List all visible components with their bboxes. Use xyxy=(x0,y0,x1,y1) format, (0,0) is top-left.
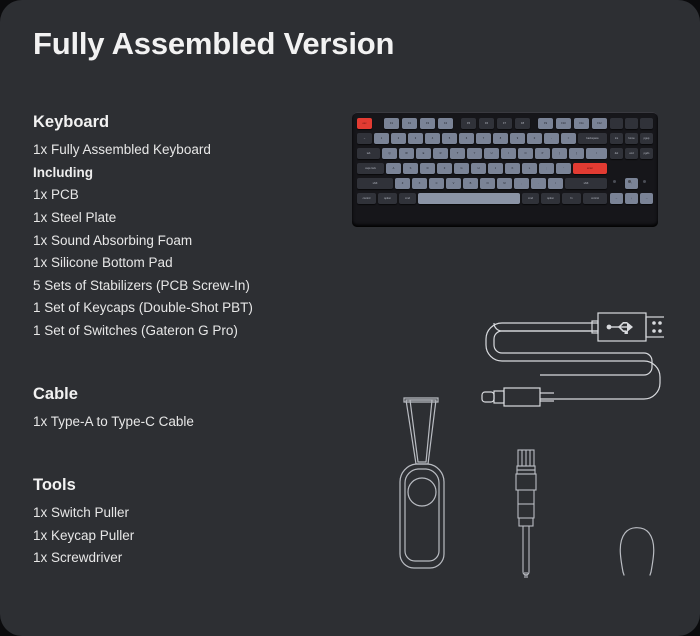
keycap: U xyxy=(484,148,499,159)
keycap: control xyxy=(357,193,376,204)
list-item: 1x Steel Plate xyxy=(33,207,253,230)
keycap: cmd xyxy=(399,193,416,204)
indicator-led xyxy=(613,180,616,183)
keycap: ↑ xyxy=(625,178,638,189)
keycap: F1 xyxy=(384,118,399,129)
keycap: shift xyxy=(565,178,607,189)
section-cable: Cable1x Type-A to Type-C Cable xyxy=(33,383,194,434)
keycap: home xyxy=(625,133,638,144)
keycap: F7 xyxy=(497,118,512,129)
keycap: \ xyxy=(586,148,607,159)
list-item: 1 Set of Switches (Gateron G Pro) xyxy=(33,320,253,343)
keycap: enter xyxy=(573,163,607,174)
keycap: cmd xyxy=(522,193,539,204)
keycap: del xyxy=(610,148,623,159)
page-title: Fully Assembled Version xyxy=(33,27,394,61)
list-item: 1x Screwdriver xyxy=(33,547,134,570)
keycap: 8 xyxy=(493,133,508,144)
keycap xyxy=(418,193,520,204)
keycap: F4 xyxy=(438,118,453,129)
keycap: R xyxy=(433,148,448,159)
keycap: . xyxy=(531,178,546,189)
keycap: 3 xyxy=(408,133,423,144)
keycap: S xyxy=(403,163,418,174)
keycap: [ xyxy=(552,148,567,159)
keycap: 4 xyxy=(425,133,440,144)
keycap: 7 xyxy=(476,133,491,144)
list-item: 1 Set of Keycaps (Double-Shot PBT) xyxy=(33,297,253,320)
content-panel: Fully Assembled Version Keyboard1x Fully… xyxy=(0,0,700,636)
keycap: F xyxy=(437,163,452,174)
keycap: = xyxy=(561,133,576,144)
keycap: O xyxy=(518,148,533,159)
keycap: T xyxy=(450,148,465,159)
section-tools: Tools1x Switch Puller1x Keycap Puller1x … xyxy=(33,474,134,570)
keycap: E xyxy=(416,148,431,159)
keycap xyxy=(625,118,638,129)
keycap: Q xyxy=(382,148,397,159)
keyboard-keys-layer: escF1F2F3F4F5F6F7F8F9F10F11F12~123456789… xyxy=(357,118,653,219)
keycap: I xyxy=(501,148,516,159)
section-keyboard: Keyboard1x Fully Assembled KeyboardInclu… xyxy=(33,111,253,343)
keycap: control xyxy=(583,193,607,204)
cable-illustration xyxy=(468,300,664,418)
section-subheading: Including xyxy=(33,162,253,185)
keyboard-illustration: escF1F2F3F4F5F6F7F8F9F10F11F12~123456789… xyxy=(352,112,658,227)
section-heading-cable: Cable xyxy=(33,383,194,405)
keycap: F12 xyxy=(592,118,607,129)
keycap: F3 xyxy=(420,118,435,129)
keycap: esc xyxy=(357,118,372,129)
list-item: 1x Switch Puller xyxy=(33,502,134,525)
keycap: option xyxy=(378,193,397,204)
list-item: 1x Type-A to Type-C Cable xyxy=(33,411,194,434)
keycap: end xyxy=(625,148,638,159)
keycap: Y xyxy=(467,148,482,159)
keycap: ← xyxy=(610,193,623,204)
keycap: P xyxy=(535,148,550,159)
screwdriver-illustration xyxy=(508,448,544,582)
keycap: ; xyxy=(539,163,554,174)
list-item: 5 Sets of Stabilizers (PCB Screw-In) xyxy=(33,275,253,298)
keycap: F10 xyxy=(556,118,571,129)
keycap: ↓ xyxy=(625,193,638,204)
keycap: N xyxy=(480,178,495,189)
keycap: F6 xyxy=(479,118,494,129)
keycap: K xyxy=(505,163,520,174)
keycap-puller-illustration xyxy=(392,392,452,578)
keycap: C xyxy=(429,178,444,189)
keycap: F2 xyxy=(402,118,417,129)
keycap: B xyxy=(463,178,478,189)
list-item: 1x Fully Assembled Keyboard xyxy=(33,139,253,162)
indicator-led xyxy=(643,180,646,183)
keycap: F8 xyxy=(515,118,530,129)
keycap: D xyxy=(420,163,435,174)
list-item: 1x Silicone Bottom Pad xyxy=(33,252,253,275)
keycap: H xyxy=(471,163,486,174)
keycap xyxy=(640,118,653,129)
keycap: ] xyxy=(569,148,584,159)
keycap: ' xyxy=(556,163,571,174)
keycap: 5 xyxy=(442,133,457,144)
keycap: pgdn xyxy=(640,148,653,159)
keycap: → xyxy=(640,193,653,204)
section-heading-tools: Tools xyxy=(33,474,134,496)
keycap: Z xyxy=(395,178,410,189)
keycap: shift xyxy=(357,178,393,189)
keycap: A xyxy=(386,163,401,174)
keycap: , xyxy=(514,178,529,189)
keycap: G xyxy=(454,163,469,174)
keycap: backspace xyxy=(578,133,607,144)
keycap: 0 xyxy=(527,133,542,144)
list-item: 1x Sound Absorbing Foam xyxy=(33,230,253,253)
indicator-led xyxy=(628,180,631,183)
keycap: F11 xyxy=(574,118,589,129)
keycap: - xyxy=(544,133,559,144)
keycap: 6 xyxy=(459,133,474,144)
list-item: 1x PCB xyxy=(33,184,253,207)
keycap: 9 xyxy=(510,133,525,144)
switch-puller-illustration xyxy=(612,516,662,578)
keycap: X xyxy=(412,178,427,189)
section-heading-keyboard: Keyboard xyxy=(33,111,253,133)
keycap: / xyxy=(548,178,563,189)
keycap: M xyxy=(497,178,512,189)
keycap: J xyxy=(488,163,503,174)
keycap: F9 xyxy=(538,118,553,129)
list-item: 1x Keycap Puller xyxy=(33,525,134,548)
keycap: V xyxy=(446,178,461,189)
keycap: option xyxy=(541,193,560,204)
keycap: caps lock xyxy=(357,163,384,174)
keycap xyxy=(610,118,623,129)
keycap: L xyxy=(522,163,537,174)
product-contents-page: Fully Assembled Version Keyboard1x Fully… xyxy=(0,0,700,636)
keycap: ins xyxy=(610,133,623,144)
keycap: F5 xyxy=(461,118,476,129)
keycap: ~ xyxy=(357,133,372,144)
keycap: W xyxy=(399,148,414,159)
keycap: tab xyxy=(357,148,380,159)
keycap: 1 xyxy=(374,133,389,144)
keycap: pgup xyxy=(640,133,653,144)
keycap: 2 xyxy=(391,133,406,144)
keycap: fn xyxy=(562,193,581,204)
